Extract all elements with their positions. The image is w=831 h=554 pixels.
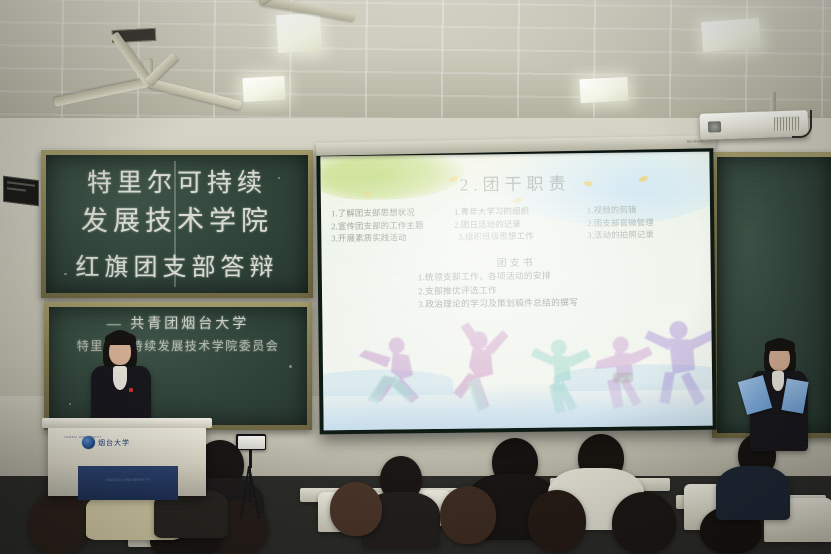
blackboard-surface: 特里尔可持续 发展技术学院 红旗团支部答辩	[46, 155, 308, 293]
audience-member	[28, 492, 90, 554]
presenter-fringe	[105, 332, 136, 345]
podium: 烟台大学 YANTAI UNIVERSITY YANTAI UNIVERSITY	[48, 424, 206, 496]
recording-phone[interactable]	[236, 434, 266, 450]
projector-lens-icon	[708, 121, 721, 132]
tripod-leg	[249, 462, 251, 502]
ceiling-light-panel	[242, 76, 285, 102]
speaker-shirt	[772, 371, 784, 391]
slide-dancer-artwork	[322, 276, 713, 431]
podium-top-surface	[42, 418, 212, 428]
speaker-holding-documents	[744, 338, 816, 454]
phone-screen[interactable]	[238, 436, 265, 449]
podium-panel-text: YANTAI UNIVERSITY	[78, 478, 178, 482]
slide-list-item: 3.组织班级思想工作	[454, 230, 575, 244]
speaker-fringe	[765, 339, 795, 351]
slide-column-2: 1.青年大学习的组织 2.团日活动的记录 3.组织班级思想工作	[454, 205, 575, 244]
audience-member	[440, 486, 496, 544]
audience-member	[716, 466, 790, 520]
podium-logo-text-en: YANTAI UNIVERSITY	[64, 435, 102, 439]
presentation-slide: 2.团干职责 1.了解团支部思想状况 2.宣传团支部的工作主题 3.开展素质实践…	[320, 152, 712, 431]
classroom-scene: 特里尔可持续 发展技术学院 红旗团支部答辩 — 共青团烟台大学 特里尔可持续发展…	[0, 0, 831, 554]
projection-screen: 2.团干职责 1.了解团支部思想状况 2.宣传团支部的工作主题 3.开展素质实践…	[316, 148, 716, 435]
slide-list-item: 3.开展素质实践活动	[331, 232, 452, 246]
blackboard-line-1: 特里尔可持续	[46, 163, 308, 199]
chalk-dust	[289, 365, 292, 368]
slide-column-3: 1.视频的剪辑 2.团支部官微管理 3.活动的拍照记录	[577, 204, 708, 243]
artwork-ground	[323, 380, 713, 431]
tripod-column	[249, 448, 252, 468]
ceiling-light-panel	[276, 13, 322, 53]
ceiling-light-panel	[579, 77, 628, 103]
blackboard-lower: — 共青团烟台大学 特里尔可持续发展技术学院委员会	[44, 302, 312, 430]
blackboard-line-3: 红旗团支部答辩	[46, 247, 308, 282]
podium-front-panel: YANTAI UNIVERSITY	[78, 466, 178, 500]
slide-columns: 1.了解团支部思想状况 2.宣传团支部的工作主题 3.开展素质实践活动 1.青年…	[331, 204, 708, 246]
audience-member	[528, 490, 586, 552]
slide-column-1: 1.了解团支部思想状况 2.宣传团支部的工作主题 3.开展素质实践活动	[331, 207, 452, 246]
audience-member	[330, 482, 382, 536]
plaque-line	[7, 181, 35, 186]
podium-logo-text: 烟台大学	[98, 438, 130, 448]
blackboard-line-2: 发展技术学院	[46, 199, 308, 238]
presenter-shirt	[113, 366, 127, 390]
slide-title: 2.团干职责	[321, 168, 710, 198]
ceiling-light-panel	[701, 18, 761, 52]
chalk-dust	[69, 403, 71, 405]
plaque-line	[7, 187, 26, 191]
audience-member	[612, 492, 676, 554]
presenter-badge	[129, 388, 133, 392]
blackboard-upper: 特里尔可持续 发展技术学院 红旗团支部答辩	[41, 150, 313, 298]
slide-list-item: 3.活动的拍照记录	[587, 229, 708, 243]
wall-plaque	[3, 176, 39, 206]
projector-cable	[792, 110, 812, 138]
